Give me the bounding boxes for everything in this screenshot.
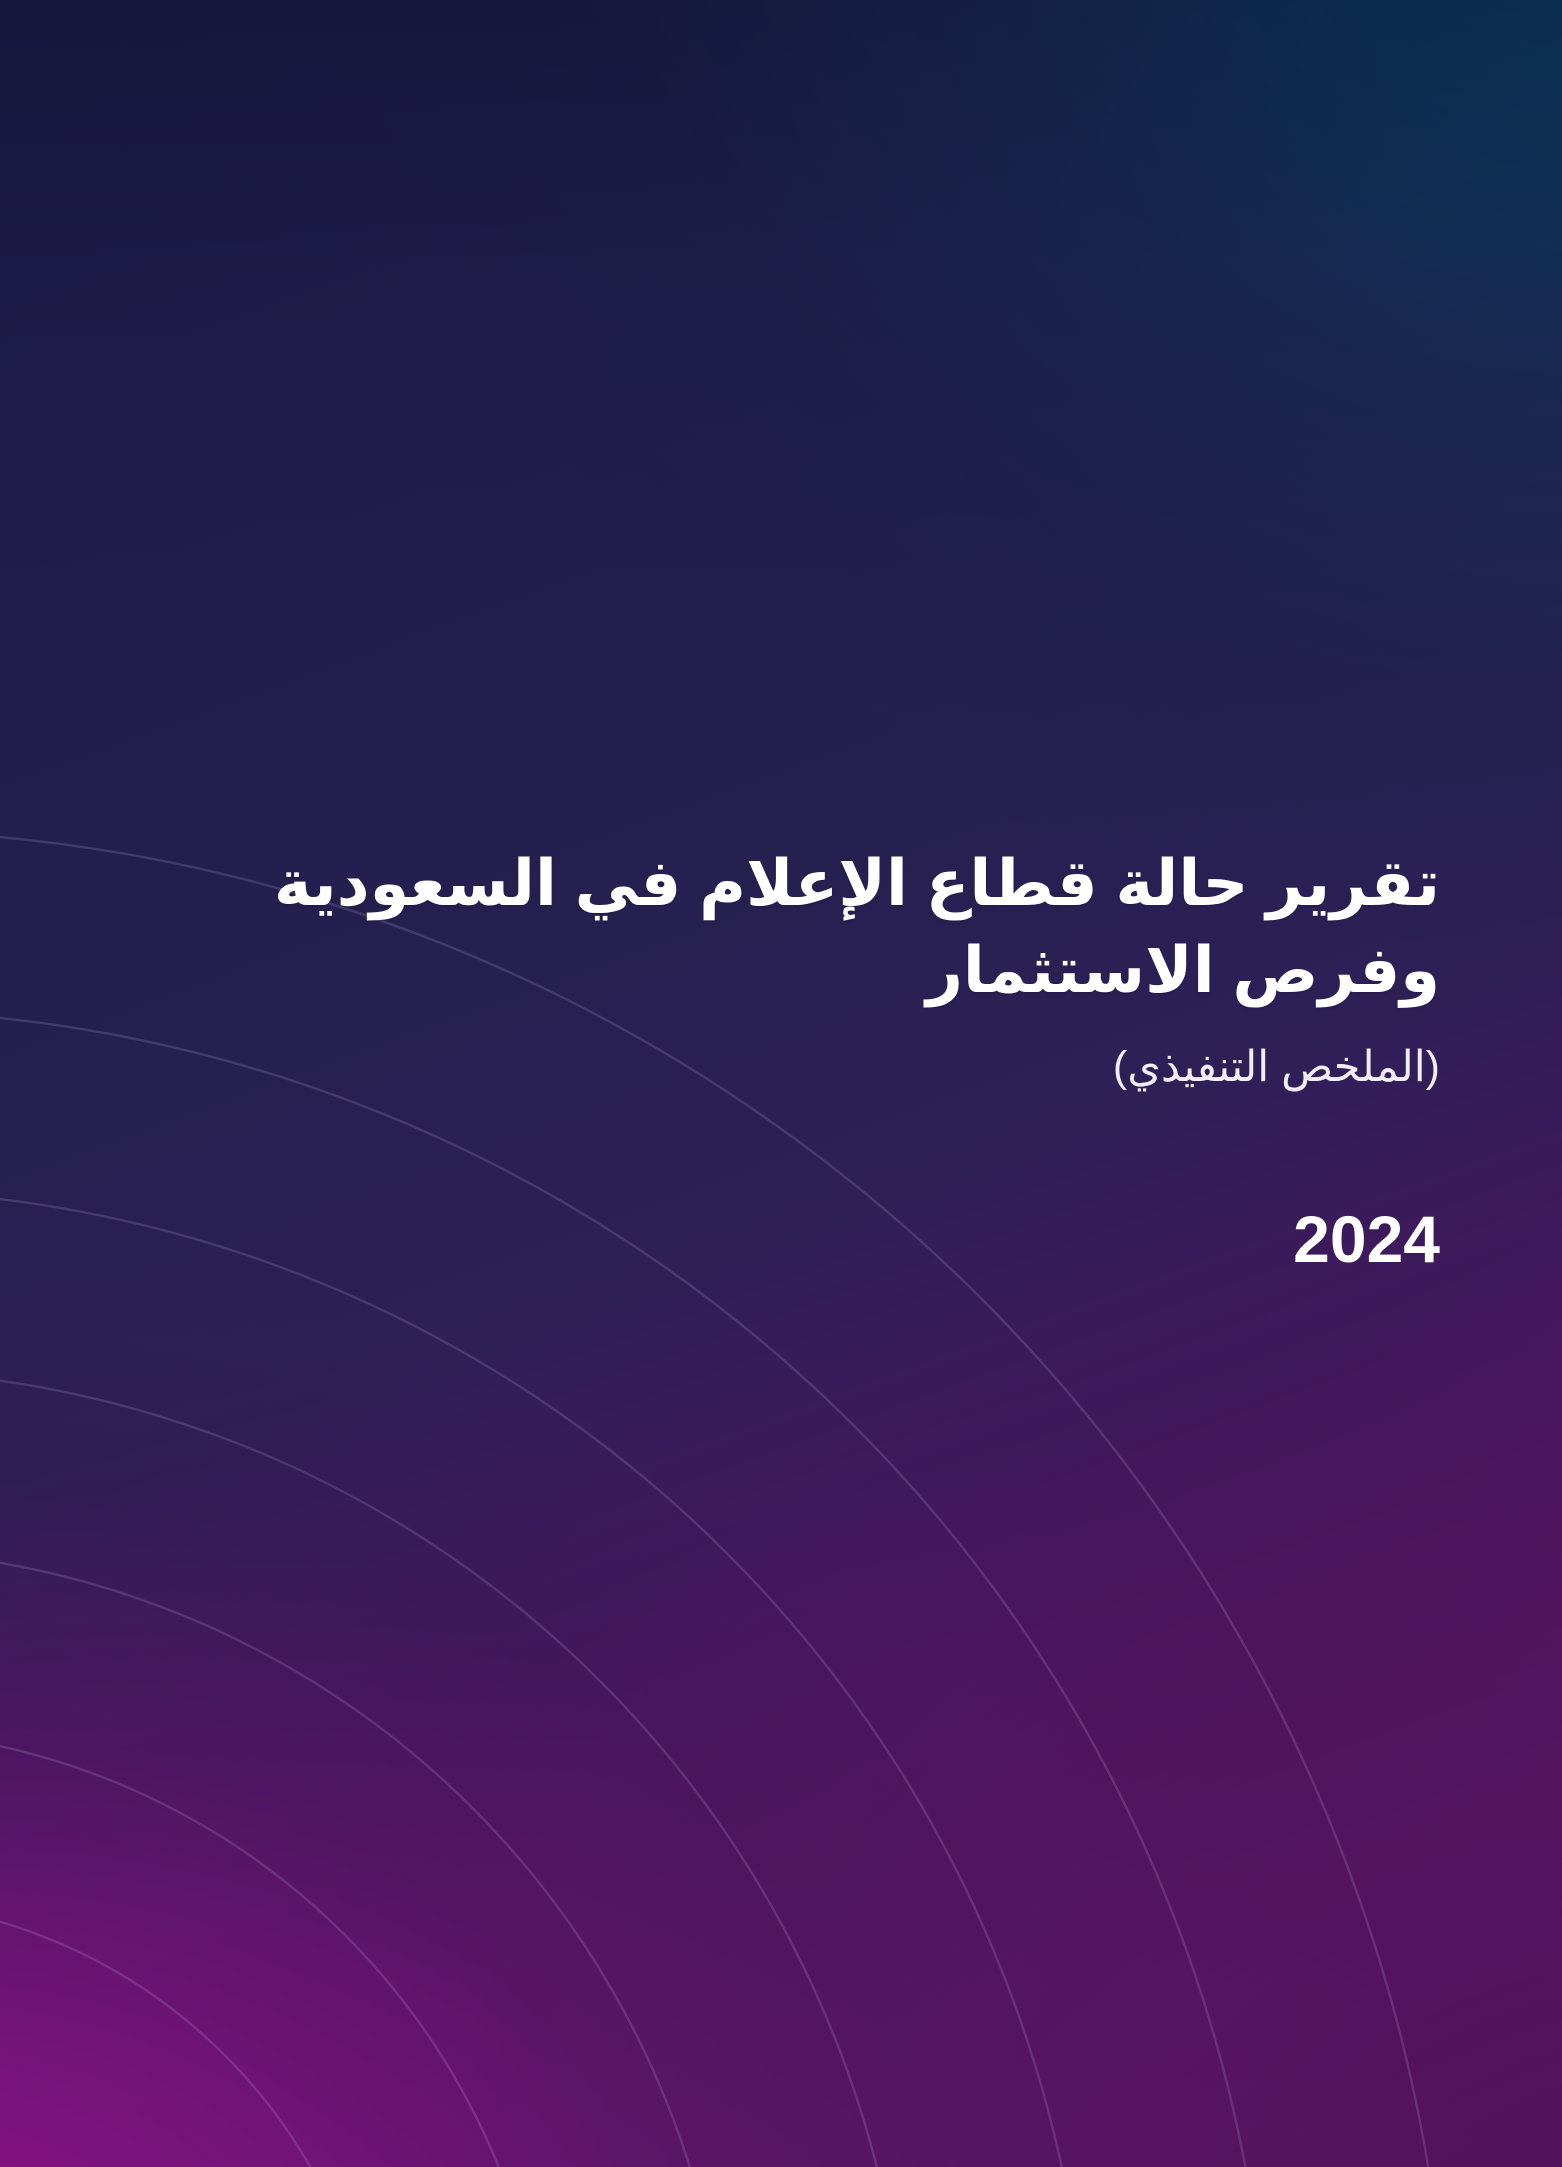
cover-text-block: تقرير حالة قطاع الإعلام في السعودية وفرص…	[240, 840, 1440, 1272]
report-title: تقرير حالة قطاع الإعلام في السعودية وفرص…	[240, 840, 1440, 1014]
report-year: 2024	[240, 1206, 1440, 1272]
report-cover-page: تقرير حالة قطاع الإعلام في السعودية وفرص…	[0, 0, 1562, 2167]
report-subtitle: (الملخص التنفيذي)	[240, 1040, 1440, 1096]
